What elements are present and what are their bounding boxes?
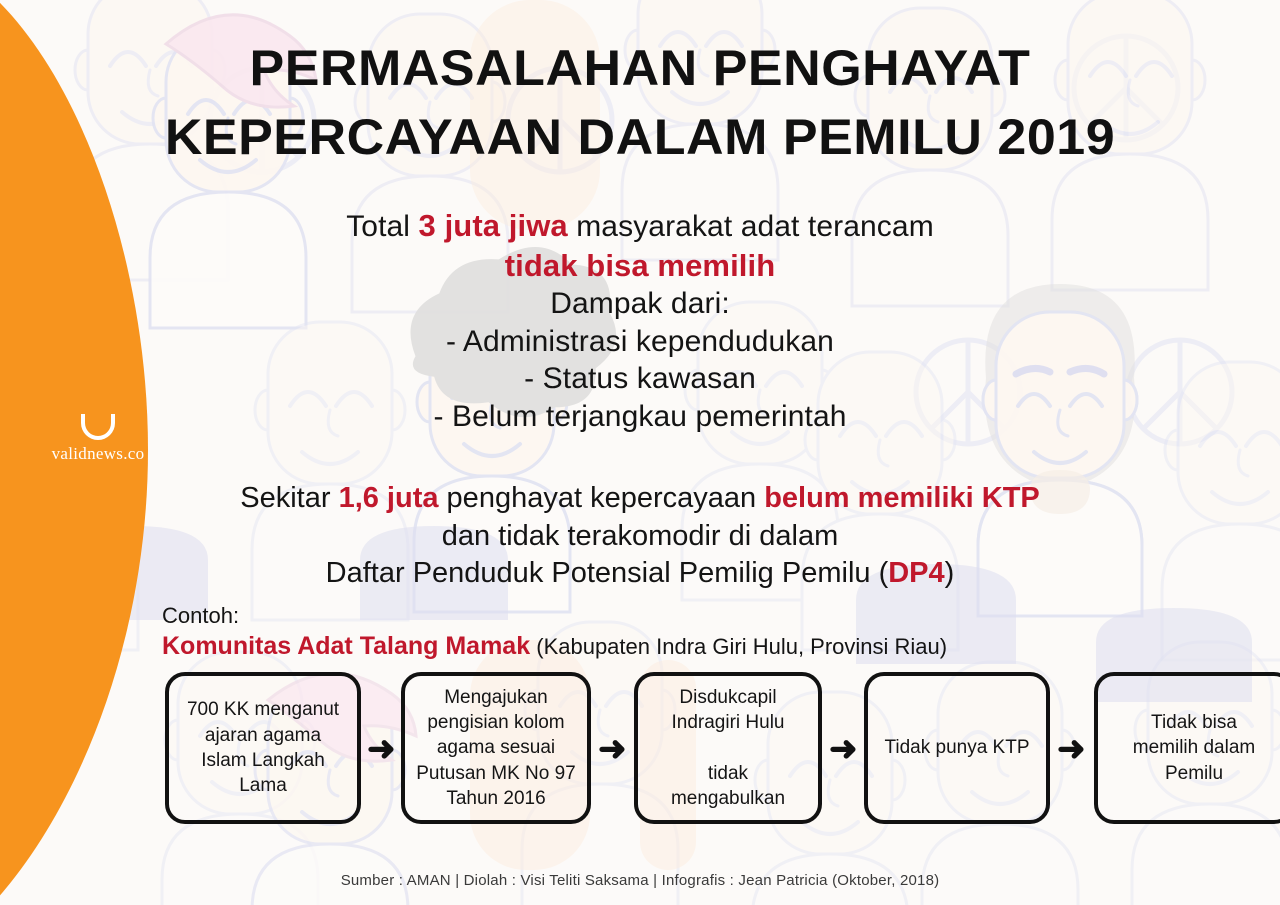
lede-line-1-post: masyarakat adat terancam	[568, 210, 934, 243]
source-credit: Sumber : AMAN | Diolah : Visi Teliti Sak…	[0, 872, 1280, 889]
example-community-name: Komunitas Adat Talang Mamak	[162, 632, 530, 660]
flow-step-2: Mengajukan pengisian kolom agama sesuai …	[401, 672, 591, 824]
flow-step-5: Tidak bisa memilih dalam Pemilu	[1094, 672, 1280, 824]
lede-bullet-3: - Belum terjangkau pemerintah	[0, 398, 1280, 436]
flow-arrow-4-icon: ➜	[1057, 732, 1086, 766]
lede-bullet-1: - Administrasi kependudukan	[0, 323, 1280, 361]
ktp-line-3-pre: Daftar Penduduk Potensial Pemilig Pemilu…	[326, 557, 889, 589]
example-community-region: (Kabupaten Indra Giri Hulu, Provinsi Ria…	[530, 634, 947, 659]
ktp-line-1: Sekitar 1,6 juta penghayat kepercayaan b…	[0, 480, 1280, 518]
flow-step-4: Tidak punya KTP	[864, 672, 1050, 824]
flow-arrow-1-icon: ➜	[367, 732, 396, 766]
ktp-highlight-belum-memiliki-ktp: belum memiliki KTP	[764, 482, 1040, 514]
flow-arrow-3-icon: ➜	[829, 732, 858, 766]
example-block: Contoh: Komunitas Adat Talang Mamak (Kab…	[162, 602, 947, 662]
ktp-line-1-mid: penghayat kepercayaan	[439, 482, 765, 514]
ktp-highlight-1-6-juta: 1,6 juta	[339, 482, 439, 514]
ktp-line-2: dan tidak terakomodir di dalam	[0, 518, 1280, 556]
title-line-1: PERMASALAHAN PENGHAYAT	[0, 34, 1280, 103]
lede-line-1-pre: Total	[346, 210, 418, 243]
flow-chart: 700 KK menganut ajaran agama Islam Langk…	[0, 672, 1280, 830]
flow-arrow-2-icon: ➜	[598, 732, 627, 766]
flow-step-2-text: Mengajukan pengisian kolom agama sesuai …	[416, 685, 575, 811]
lede-bullet-2: - Status kawasan	[0, 360, 1280, 398]
lede-block: Total 3 juta jiwa masyarakat adat teranc…	[0, 206, 1280, 436]
flow-step-3: Disdukcapil Indragiri Hulu tidak mengabu…	[634, 672, 822, 824]
flow-step-3-text: Disdukcapil Indragiri Hulu tidak mengabu…	[671, 685, 785, 811]
example-label: Contoh:	[162, 602, 947, 630]
ktp-line-1-pre: Sekitar	[240, 482, 338, 514]
lede-highlight-tidak-bisa-memilih: tidak bisa memilih	[0, 246, 1280, 285]
ktp-line-3-post: )	[945, 557, 955, 589]
lede-highlight-3-juta-jiwa: 3 juta jiwa	[419, 208, 568, 243]
title-line-2: KEPERCAYAAN DALAM PEMILU 2019	[0, 103, 1280, 172]
ktp-highlight-dp4: DP4	[888, 557, 944, 589]
infographic-poster: validnews.co PERMASALAHAN PENGHAYAT KEPE…	[0, 0, 1280, 905]
lede-dampak-label: Dampak dari:	[0, 285, 1280, 323]
example-community: Komunitas Adat Talang Mamak (Kabupaten I…	[162, 630, 947, 663]
flow-step-1-text: 700 KK menganut ajaran agama Islam Langk…	[187, 697, 339, 798]
page-title: PERMASALAHAN PENGHAYAT KEPERCAYAAN DALAM…	[0, 34, 1280, 172]
lede-line-1: Total 3 juta jiwa masyarakat adat teranc…	[0, 206, 1280, 246]
ktp-block: Sekitar 1,6 juta penghayat kepercayaan b…	[0, 480, 1280, 593]
flow-step-5-text: Tidak bisa memilih dalam Pemilu	[1133, 710, 1255, 786]
flow-step-1: 700 KK menganut ajaran agama Islam Langk…	[165, 672, 361, 824]
flow-step-4-text: Tidak punya KTP	[884, 735, 1029, 760]
ktp-line-3: Daftar Penduduk Potensial Pemilig Pemilu…	[0, 555, 1280, 593]
